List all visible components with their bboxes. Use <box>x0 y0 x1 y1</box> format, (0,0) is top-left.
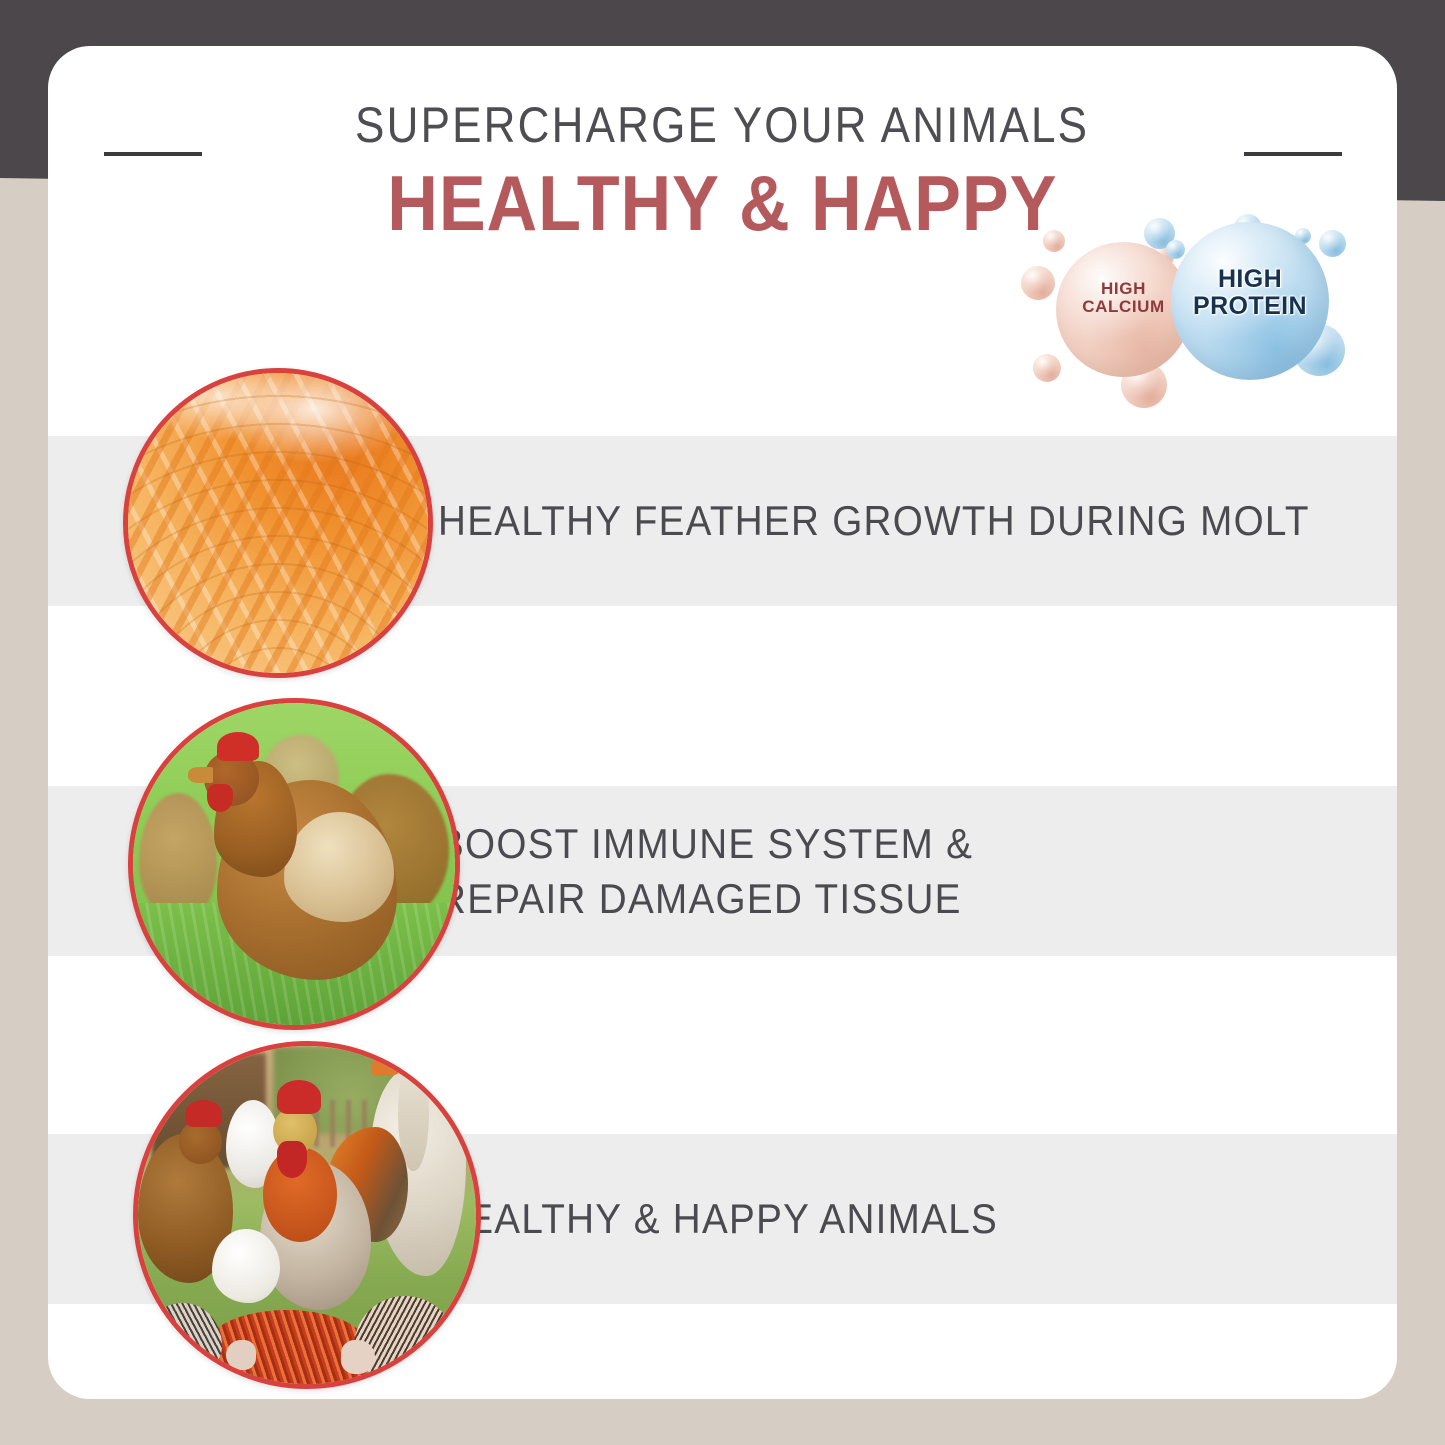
headline-text: HEALTHY & HAPPY <box>387 158 1057 249</box>
badge-protein-line2: PROTEIN <box>1171 293 1329 320</box>
badge-high-protein: HIGH PROTEIN <box>1171 222 1329 380</box>
feature-3-line1: HEALTHY & HAPPY ANIMALS <box>438 1191 1266 1246</box>
farmyard-animals-with-mealworms-photo <box>138 1046 476 1384</box>
orange-feathers-photo <box>128 373 428 673</box>
rooster-wattle <box>277 1141 307 1178</box>
hedgehog-right <box>354 1296 455 1384</box>
dash-left-icon <box>104 152 202 156</box>
goose-beak <box>371 1060 401 1077</box>
kicker-text: SUPERCHARGE YOUR ANIMALS <box>355 96 1089 154</box>
bubble-satellite-icon <box>1021 266 1055 300</box>
feature-text-1: HEALTHY FEATHER GROWTH DURING MOLT <box>438 436 1338 606</box>
brown-hens-on-grass-photo <box>133 703 455 1025</box>
hen-left-comb <box>185 1100 222 1127</box>
infographic-stage: SUPERCHARGE YOUR ANIMALS HEALTHY & HAPPY <box>0 0 1445 1445</box>
hedgehog-left-face <box>226 1340 256 1370</box>
bubble-satellite-icon <box>1166 240 1185 259</box>
content-card: SUPERCHARGE YOUR ANIMALS HEALTHY & HAPPY <box>48 46 1397 1399</box>
badge-protein-line1: HIGH <box>1171 266 1329 293</box>
hedgehog-left <box>141 1303 222 1377</box>
feature-2-line1: BOOST IMMUNE SYSTEM & <box>438 816 1266 871</box>
feature-image-2-brown-hens <box>128 698 460 1030</box>
bubble-satellite-icon <box>1319 230 1346 257</box>
feature-2-line2: REPAIR DAMAGED TISSUE <box>438 871 1266 926</box>
rooster-comb <box>277 1080 321 1114</box>
hen-wing <box>284 812 393 921</box>
badge-high-protein-label: HIGH PROTEIN <box>1171 266 1329 320</box>
dash-right-icon <box>1244 152 1342 156</box>
feature-text-3: HEALTHY & HAPPY ANIMALS <box>438 1134 1338 1304</box>
duckling <box>212 1229 280 1303</box>
hen-comb <box>217 732 259 761</box>
feature-text-2: BOOST IMMUNE SYSTEM & REPAIR DAMAGED TIS… <box>438 786 1338 956</box>
bubble-satellite-icon <box>1043 230 1065 252</box>
hedgehog-right-face <box>341 1340 375 1374</box>
feature-image-3-farmyard-animals <box>133 1041 481 1389</box>
nutrient-badges: HIGH CALCIUM HIGH PROTEIN <box>1003 214 1383 424</box>
kicker-row: SUPERCHARGE YOUR ANIMALS <box>48 94 1397 156</box>
feature-image-1-orange-feathers <box>123 368 433 678</box>
hen-beak <box>188 767 214 783</box>
feature-1-line1: HEALTHY FEATHER GROWTH DURING MOLT <box>438 493 1266 548</box>
bubble-satellite-icon <box>1033 354 1061 382</box>
